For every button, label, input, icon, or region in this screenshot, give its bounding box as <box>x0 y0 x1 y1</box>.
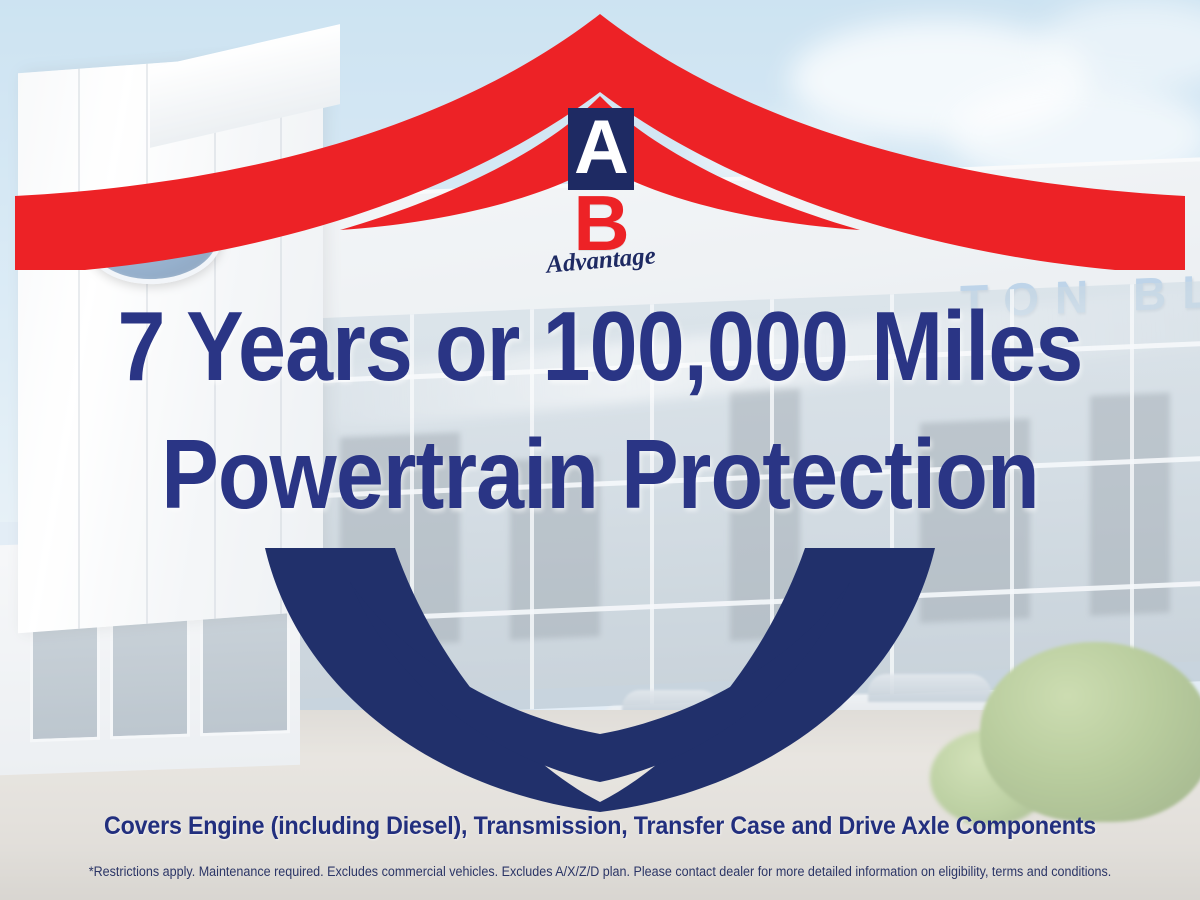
logo-letter-a: A <box>568 108 634 190</box>
coverage-text: Covers Engine (including Diesel), Transm… <box>42 812 1158 841</box>
headline: 7 Years or 100,000 Miles Powertrain Prot… <box>72 282 1128 538</box>
promo-banner: TON BLA <box>0 0 1200 900</box>
ab-advantage-logo: A B Advantage <box>543 108 659 283</box>
ford-logo-text: Ford <box>120 219 188 260</box>
shrub <box>980 642 1200 822</box>
headline-line-2: Powertrain Protection <box>72 410 1128 538</box>
headline-line-1: 7 Years or 100,000 Miles <box>117 291 1082 401</box>
disclaimer-text: *Restrictions apply. Maintenance require… <box>42 864 1158 879</box>
